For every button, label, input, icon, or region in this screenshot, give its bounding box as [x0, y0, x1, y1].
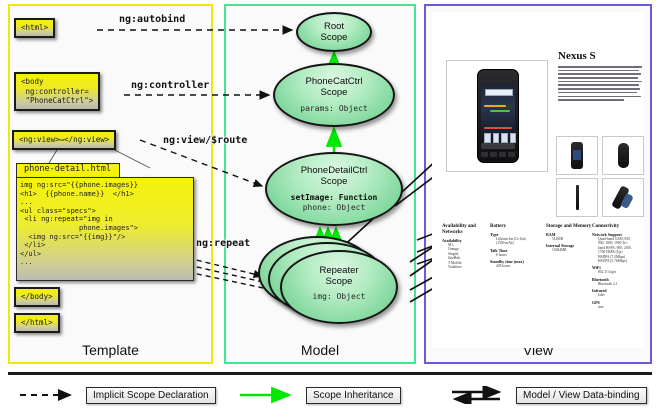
code-box-body-open[interactable]: <body ng:controller= "PhoneCatCtrl"> — [14, 72, 100, 111]
spec-value: 802.11 b/g/n — [592, 270, 646, 274]
spec-col-connectivity: Connectivity Network Support Quad-band G… — [592, 224, 646, 309]
spec-value: Vodafone — [442, 265, 496, 269]
code-box-body-close[interactable]: </body> — [14, 287, 60, 307]
scope-repeater-front[interactable]: Repeater Scope img: Object — [280, 250, 398, 324]
label-ng-repeat: ng:repeat — [196, 238, 250, 249]
phone-screen-bar-orange — [484, 105, 506, 107]
legend-item-data-binding: Model / View Data-binding — [448, 386, 647, 404]
panel-model-label: Model — [226, 342, 414, 358]
product-description — [558, 66, 642, 103]
label-ng-controller: ng:controller — [131, 80, 209, 91]
scope-repeater-title-1: Repeater — [282, 266, 396, 277]
scope-root[interactable]: Root Scope — [296, 12, 372, 52]
phone-screen — [481, 83, 515, 141]
thumbnail-grid — [556, 136, 644, 216]
phone-screen-bar-green — [490, 110, 510, 112]
scope-phonecatctrl[interactable]: PhoneCatCtrl Scope params: Object — [273, 63, 395, 127]
spec-value: HSUPA (5.76Mbps) — [592, 259, 646, 263]
scope-phonedetailctrl-attr-setimage: setImage: Function — [267, 193, 401, 203]
label-ng-autobind: ng:autobind — [119, 14, 185, 25]
file-card-code: img ng:src="{{phone.images}} <h1> {{phon… — [20, 181, 138, 267]
hero-image-frame[interactable] — [446, 60, 548, 172]
scope-repeater-attr-img: img: Object — [282, 292, 396, 302]
legend-label-databinding: Model / View Data-binding — [516, 387, 647, 404]
legend-item-scope-inheritance: Scope Inheritance — [238, 386, 401, 404]
legend-item-implicit-scope-declaration: Implicit Scope Declaration — [18, 386, 216, 404]
scope-phonedetailctrl-title-2: Scope — [267, 177, 401, 188]
product-title: Nexus S — [558, 50, 596, 62]
code-box-html-close[interactable]: </html> — [14, 313, 60, 333]
spec-col-availability: Availability and Networks Availability M… — [442, 224, 496, 269]
view-rendered-page: Nexus S Avai — [432, 12, 644, 348]
code-box-html-open[interactable]: <html> — [14, 18, 55, 38]
legend-divider — [8, 372, 652, 375]
scope-repeater-title-2: Scope — [282, 277, 396, 288]
spec-value: true — [592, 305, 646, 309]
spec-heading-connectivity: Connectivity — [592, 224, 646, 230]
spec-value: (1500 mAh) — [490, 241, 544, 245]
legend-label-implicit: Implicit Scope Declaration — [86, 387, 216, 404]
thumbnail-4[interactable] — [602, 178, 644, 217]
scope-root-title-1: Root — [298, 22, 370, 33]
phone-urlbar — [485, 89, 513, 96]
panel-template-label: Template — [10, 342, 211, 358]
scope-phonedetailctrl[interactable]: PhoneDetailCtrl Scope setImage: Function… — [265, 152, 403, 226]
phone-dock — [481, 143, 515, 149]
legend: Implicit Scope Declaration Scope Inherit… — [0, 372, 660, 420]
label-ng-view-route: ng:view/$route — [163, 135, 247, 146]
scope-repeater-stack: Repeater Scope img: Object — [258, 236, 408, 328]
scope-phonecatctrl-title-2: Scope — [275, 88, 393, 99]
scope-phonecatctrl-attr-params: params: Object — [275, 104, 393, 114]
spec-value: false — [592, 293, 646, 297]
legend-label-inheritance: Scope Inheritance — [306, 387, 401, 404]
diagram-canvas: Template Model View — [0, 0, 660, 420]
scope-root-title-2: Scope — [298, 33, 370, 44]
scope-phonedetailctrl-title-1: PhoneDetailCtrl — [267, 166, 401, 177]
scope-phonedetailctrl-attr-phone: phone: Object — [267, 203, 401, 213]
thumbnail-3[interactable] — [556, 178, 598, 217]
file-card-filename: phone-detail.html — [24, 164, 111, 174]
thumbnail-1[interactable] — [556, 136, 598, 175]
spec-value: 6 hours — [490, 253, 544, 257]
spec-heading-battery: Battery — [490, 224, 544, 230]
phone-app-icons — [484, 133, 516, 141]
code-box-ng-view[interactable]: <ng:view>▭</ng:view> — [12, 130, 116, 150]
phone-buttons — [481, 152, 515, 157]
green-arrow-icon — [238, 386, 300, 404]
scope-phonecatctrl-title-1: PhoneCatCtrl — [275, 77, 393, 88]
spec-heading-availability: Availability and Networks — [442, 224, 496, 236]
spec-value: Bluetooth 2.1 — [592, 282, 646, 286]
thumbnail-2[interactable] — [602, 136, 644, 175]
phone-hero-image — [477, 69, 519, 163]
dashed-arrow-icon — [18, 386, 80, 404]
double-arrow-icon — [448, 386, 510, 404]
spec-value: 428 hours — [490, 264, 544, 268]
phone-screen-bar-red — [484, 127, 512, 129]
file-card-phone-detail[interactable]: phone-detail.html img ng:src="{{phone.im… — [16, 163, 194, 281]
spec-col-battery: Battery Type Lithium Ion (Li-Ion) (1500 … — [490, 224, 544, 269]
